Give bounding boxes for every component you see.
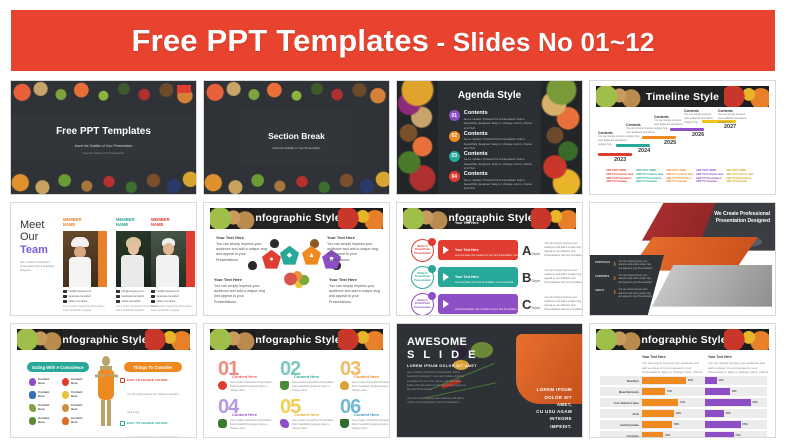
headline-line-2: Presentation Designed — [708, 218, 770, 225]
number-cell-01: 01 Content Here Get a modern PowerPoint … — [218, 360, 274, 392]
number-row: Get a modern PowerPoint Presentation tha… — [218, 381, 274, 392]
timeline-foot-2026: ADD TEXT HERE ADD TO Contents Here ADD T… — [696, 169, 729, 184]
slide-02-subtitle: Insert the Subtitle of Your Presentation — [204, 146, 389, 150]
female-silhouette — [95, 356, 117, 426]
tomato-icon — [62, 378, 69, 386]
herb-icon — [29, 417, 36, 425]
chart-track-purple: 22% — [705, 376, 768, 385]
slide-12-header-bar: Infographic Style — [596, 329, 769, 350]
header-food-right — [724, 86, 769, 107]
slide-06-canvas: Infographic Style ● ◆ ▲ ■ — [204, 203, 389, 316]
header-food-left — [210, 208, 255, 229]
timeline-body: You can simply impress your audience and… — [654, 119, 686, 131]
checklist-item-1: EASY TO CHANGE COLORS You can simply imp… — [120, 378, 186, 418]
timeline-foot-2025: ADD TEXT HERE ADD TO Contents Here ADD T… — [666, 169, 699, 184]
chart-head-left-heading: Your Text Here — [642, 355, 704, 360]
slide-09-title: Infographic Style — [59, 334, 148, 346]
abc-circle-b: Modern PowerPoint Presentation — [411, 266, 434, 289]
abc-desc-b: You can simply impress your audience and… — [544, 269, 583, 285]
agenda-item-body: Get a modern PowerPoint Presentation tha… — [464, 137, 538, 150]
slide-01-canvas: Free PPT Templates Insert the Subtitle o… — [11, 81, 196, 194]
abc-banner-heading: Your Text Here — [455, 248, 518, 252]
berry-icon — [29, 391, 36, 399]
slide-08-canvas: We Create Professional Presentation Desi… — [590, 203, 775, 316]
chart-bar-orange — [642, 399, 678, 406]
slide-09-canvas: Infographic Style Eating With A Conscien… — [11, 324, 196, 437]
chart-pct-purple: 22% — [719, 379, 724, 382]
agenda-item-02[interactable]: 02 Contents Get a modern PowerPoint Pres… — [449, 131, 538, 151]
slide-06-title: Infographic Style — [252, 212, 341, 224]
caption-heading: Your Text Here — [214, 277, 266, 283]
slide-01-subtitle: Insert the Subtitle of Your Presentation — [11, 144, 196, 148]
slide-thumbnail-11[interactable]: AWESOME S L I D E LOREM IPSUM DOLOR SIT … — [396, 323, 583, 438]
broccoli-icon — [340, 419, 349, 428]
slide-01-title: Free PPT Templates — [11, 126, 196, 137]
chart-bar-orange — [642, 377, 686, 384]
number-body: Get a modern PowerPoint Presentation tha… — [292, 381, 336, 392]
left-badge: Eating With A Conscience — [27, 362, 89, 372]
timeline-year-2027: 2027 — [724, 124, 736, 130]
chart-bar-orange — [642, 388, 665, 395]
caption-body: You can simply impress your audience and… — [214, 284, 265, 304]
row-label: PORTFOLIO — [595, 261, 611, 264]
chart-track-purple: 48% — [705, 387, 768, 396]
slide-thumbnail-02[interactable]: Section Break Insert the Subtitle of You… — [203, 80, 390, 195]
chart-bar-purple — [705, 399, 751, 406]
letter-sub: Style — [531, 278, 540, 283]
slide-12-canvas: Infographic Style Your Text Here You can… — [590, 324, 775, 437]
slide-03-canvas: Agenda Style 01 Contents Get a modern Po… — [397, 81, 582, 194]
twitter-icon — [151, 300, 155, 304]
food-glyph-icon: ● — [269, 256, 273, 263]
abc-circle-badge — [428, 238, 436, 246]
caption-4: Your Text Here You can simply impress yo… — [329, 277, 381, 306]
number-cell-02: 02 Content Here Get a modern PowerPoint … — [280, 360, 336, 392]
facebook-icon — [151, 295, 155, 299]
member-photo — [63, 231, 107, 287]
check-icon — [120, 421, 125, 426]
chevron-right-icon: ❯ — [613, 261, 616, 266]
veg-label: ContentHere — [38, 378, 49, 386]
shield-shape-3: ▲ — [302, 246, 321, 265]
caption-body: You can simply impress your audience and… — [329, 284, 380, 304]
chart-track-orange: 58% — [642, 420, 705, 429]
chart-pct-purple: 88% — [753, 401, 758, 404]
row-label: CONTENTS — [595, 275, 611, 278]
slide-08-headline: We Create Professional Presentation Desi… — [708, 211, 770, 226]
slide-thumbnail-05[interactable]: Meet Our Team Get a modern PowerPoint Pr… — [10, 202, 197, 317]
member-name-l2: NAME — [151, 222, 163, 227]
eggplant-icon — [29, 378, 36, 386]
letter-glyph: B — [522, 270, 531, 285]
header-food-right — [338, 208, 383, 229]
silhouette-leg-right — [107, 400, 111, 426]
number-body: Get a modern PowerPoint Presentation tha… — [292, 419, 336, 430]
row-label: ABOUT — [595, 289, 611, 292]
silhouette-leg-left — [101, 400, 105, 426]
facebook-icon — [116, 295, 120, 299]
number-row: Get a modern PowerPoint Presentation tha… — [280, 419, 336, 430]
veg-item-7: ContentHere — [29, 417, 58, 425]
apple-glyph-icon: ▲ — [308, 252, 315, 259]
agenda-item-label: Contents — [464, 151, 538, 158]
slide-04-canvas: Timeline Style 2023 2024 2025 2026 2027 … — [590, 81, 775, 194]
slide-11-title-line-1: AWESOME — [407, 336, 467, 348]
row-body: You can simply impress your audience and… — [618, 275, 654, 285]
slide-thumbnail-06[interactable]: Infographic Style ● ◆ ▲ ■ — [203, 202, 390, 317]
caption-1: Your Text Here You can simply impress yo… — [216, 235, 268, 264]
member-name: MEMBER NAME — [151, 217, 195, 228]
number-cell-04: 04 Content Here Get a modern PowerPoint … — [218, 398, 274, 430]
abc-circle-c: Modern PowerPoint Presentation — [411, 293, 434, 316]
garlic-icon — [340, 381, 349, 390]
member-photo — [151, 231, 195, 287]
timeline-year-2024: 2024 — [638, 148, 650, 154]
number-row: Get a modern PowerPoint Presentation tha… — [218, 419, 274, 430]
twitter-icon — [63, 300, 67, 304]
number-heading: Content Here — [294, 412, 336, 417]
right-line-3: AMET, — [536, 401, 572, 408]
agenda-item-01[interactable]: 01 Contents Get a modern PowerPoint Pres… — [449, 110, 538, 130]
chart-track-orange: 62% — [642, 409, 705, 418]
onion-icon — [62, 404, 69, 412]
member-name-l1: MEMBER — [116, 217, 135, 222]
slide-thumbnail-03[interactable]: Agenda Style 01 Contents Get a modern Po… — [396, 80, 583, 195]
slide-05-canvas: Meet Our Team Get a modern PowerPoint Pr… — [11, 203, 196, 316]
agenda-item-body: Get a modern PowerPoint Presentation tha… — [464, 157, 538, 170]
caption-body: You can simply impress your audience and… — [216, 242, 267, 262]
slide-11-subtitle: LOREM IPSUM DOLOR SIT AMET — [407, 364, 477, 368]
slide-11-body-1: Get a modern PowerPoint Presentation tha… — [407, 371, 469, 392]
chef-coat — [121, 255, 144, 287]
number-cell-06: 06 Content Here Get a modern PowerPoint … — [340, 398, 390, 430]
foot-line: ADD TO Template — [666, 180, 699, 184]
chart-track-orange: 40% — [642, 431, 705, 438]
right-line-5: INTEGRE — [536, 415, 572, 422]
face-shape — [128, 243, 139, 255]
abc-circle-text: Modern PowerPoint Presentation — [412, 245, 433, 256]
chart-category-label: Your Nutrient Here — [600, 401, 642, 405]
chart-track-purple: 55% — [705, 431, 768, 438]
member-name: MEMBER NAME — [63, 217, 107, 228]
member-name-l2: NAME — [63, 222, 75, 227]
caption-heading: Your Text Here — [327, 235, 379, 241]
number-row: Get a modern PowerPoint Presentation tha… — [280, 381, 336, 392]
number-body: Get a modern PowerPoint Presentation tha… — [230, 381, 274, 392]
slide-thumbnail-04[interactable]: Timeline Style 2023 2024 2025 2026 2027 … — [589, 80, 776, 195]
slide-07-canvas: Infographic Style Modern PowerPoint Pres… — [397, 203, 582, 316]
caption-2: Your Text Here You can simply impress yo… — [327, 235, 379, 264]
chart-row-4: Fruit 62% 35% — [600, 409, 767, 418]
link-twitter[interactable]: twitter.com/abcd — [151, 300, 195, 304]
link-twitter[interactable]: twitter.com/abcd — [63, 300, 107, 304]
veg-label: ContentHere — [71, 404, 82, 412]
caption-3: Your Text Here You can simply impress yo… — [214, 277, 266, 306]
member-side-band — [186, 231, 195, 287]
number-heading: Content Here — [232, 412, 274, 417]
agenda-item-text: Contents Get a modern PowerPoint Present… — [464, 110, 538, 130]
slide-thumbnail-12[interactable]: Infographic Style Your Text Here You can… — [589, 323, 776, 438]
slide-04-title: Timeline Style — [646, 91, 719, 103]
chart-pct-orange: 85% — [688, 379, 693, 382]
chart-pct-purple: 48% — [732, 390, 737, 393]
abc-row-c[interactable]: Modern PowerPoint Presentation Your Text… — [411, 293, 583, 316]
banner-title-sub: Slides No 01~12 — [453, 27, 655, 57]
abc-banner-text: Your Text Here Never add before has the … — [455, 275, 518, 316]
chart-row-1: Nutrition 85% 22% — [600, 376, 767, 385]
chart-bar-purple — [705, 377, 717, 384]
oil-bottle-icon — [62, 391, 69, 399]
header-food-left — [596, 329, 641, 350]
member-links: info@company.com facebook.com/abcd twitt… — [63, 290, 107, 304]
timeline-foot-2023: ADD TEXT HERE ADD TO Contents Here ADD T… — [606, 169, 639, 184]
agenda-number-badge: 03 — [449, 151, 460, 162]
garlic-photo-panel — [652, 265, 772, 307]
right-line-1: LOREM IPSUM — [536, 386, 572, 393]
timeline-block-2027: Contents You can simply impress your aud… — [718, 109, 750, 125]
chef-coat — [156, 255, 179, 287]
chart-pct-orange: 58% — [674, 423, 679, 426]
veg-item-8: ContentHere — [62, 417, 91, 425]
member-side-band — [98, 231, 107, 287]
link-email[interactable]: info@company.com — [63, 290, 107, 294]
chevron-right-icon: ❯ — [613, 289, 616, 294]
right-line-6: IMPEDIT. — [536, 423, 572, 430]
timeline-block-2025: Contents You can simply impress your aud… — [654, 115, 686, 131]
veg-item-4: ContentHere — [62, 391, 91, 399]
right-line-2: DOLOR SIT — [536, 394, 572, 401]
team-member-card-1[interactable]: MEMBER NAME info@company.com facebook.co… — [63, 217, 107, 313]
foot-line: ADD TO Template — [606, 180, 639, 184]
caption-heading: Your Text Here — [329, 277, 381, 283]
abc-letter-b: BStyle — [522, 270, 540, 285]
header-food-right — [338, 329, 383, 350]
team-member-card-3[interactable]: MEMBER NAME info@company.com facebook.co… — [151, 217, 195, 313]
slide-11-title-line-2: S L I D E — [407, 349, 478, 361]
slide-10-header-bar: Infographic Style — [210, 329, 383, 350]
slide-thumbnail-10[interactable]: Infographic Style 01 Content Here Get a … — [203, 323, 390, 438]
header-food-left — [210, 329, 255, 350]
member-name-l1: MEMBER — [151, 217, 170, 222]
veg-icon-grid: ContentHere ContentHere ContentHere Cont… — [29, 378, 91, 425]
timeline-year-2023: 2023 — [614, 157, 626, 163]
slide-11-canvas: AWESOME S L I D E LOREM IPSUM DOLOR SIT … — [397, 324, 582, 437]
face-shape — [163, 243, 174, 255]
shield-shape-2: ◆ — [280, 246, 299, 265]
letter-glyph: C — [522, 297, 531, 312]
silhouette-head — [102, 356, 110, 366]
veg-label: ContentHere — [38, 417, 49, 425]
veg-item-5: ContentHere — [29, 404, 58, 412]
person-head-1 — [270, 239, 279, 248]
chart-head-right-heading: Your Text Here — [708, 355, 770, 360]
chart-pct-orange: 70% — [680, 401, 685, 404]
slide-09-header-bar: Infographic Style — [17, 329, 190, 350]
veg-item-3: ContentHere — [29, 391, 58, 399]
checklist-body: You can simply impress your audience and… — [127, 436, 179, 438]
header-food-left — [596, 86, 641, 107]
face-shape — [74, 246, 86, 258]
veg-label: ContentHere — [38, 391, 49, 399]
veg-item-2: ContentHere — [62, 378, 91, 386]
letter-glyph: A — [522, 243, 531, 258]
title-line-1: Meet — [20, 219, 48, 232]
banner-title-separator: - — [429, 27, 453, 57]
right-badge: Things To Consider — [124, 362, 182, 372]
agenda-item-label: Contents — [464, 131, 538, 138]
header-food-right — [145, 329, 190, 350]
abc-circle-a: Modern PowerPoint Presentation — [411, 239, 434, 262]
agenda-number-badge: 04 — [449, 171, 460, 182]
link-email[interactable]: info@company.com — [151, 290, 195, 294]
chart-bar-orange — [642, 432, 663, 438]
abc-banner-heading: Your Text Here — [455, 221, 518, 225]
timeline-foot-2027: ADD TEXT HERE ADD TO Contents Here ADD T… — [726, 169, 759, 184]
chart-bar-purple — [705, 410, 724, 417]
veg-item-6: ContentHere — [62, 404, 91, 412]
caption-heading: Your Text Here — [216, 235, 268, 241]
abc-desc-c: You can simply impress your audience and… — [544, 296, 583, 312]
checklist-heading: EASY TO CHANGE COLORS — [127, 421, 186, 425]
number-heading: Content Here — [294, 374, 336, 379]
slide-11-body-2: You can simply impress your audience and… — [407, 397, 469, 405]
slide-thumbnail-08[interactable]: We Create Professional Presentation Desi… — [589, 202, 776, 317]
chart-category-label: Nutrition — [600, 379, 642, 383]
chart-row-5: Carbohydrate 58% 68% — [600, 420, 767, 429]
page-header-banner: Free PPT Templates - Slides No 01~12 — [11, 10, 775, 71]
letter-sub: Style — [531, 305, 540, 310]
slide-11-right-text: LOREM IPSUM DOLOR SIT AMET, CU USU AGAM … — [536, 386, 572, 430]
abc-letter-c: CStyle — [522, 297, 540, 312]
eggplant-icon — [280, 419, 289, 428]
link-facebook[interactable]: facebook.com/abcd — [151, 295, 195, 299]
chart-pct-purple: 35% — [726, 412, 731, 415]
timeline-foot-2024: ADD TEXT HERE ADD TO Contents Here ADD T… — [636, 169, 669, 184]
title-line-2: Our — [20, 231, 48, 244]
slide-thumbnail-09[interactable]: Infographic Style Eating With A Conscien… — [10, 323, 197, 438]
chart-track-orange: 70% — [642, 398, 705, 407]
slide-thumbnail-07[interactable]: Infographic Style Modern PowerPoint Pres… — [396, 202, 583, 317]
tomato-icon — [218, 381, 227, 390]
veg-item-1: ContentHere — [29, 378, 58, 386]
slide-10-canvas: Infographic Style 01 Content Here Get a … — [204, 324, 389, 437]
timeline-block-2026: Contents You can simply impress your aud… — [684, 109, 716, 125]
chart-row-3: Your Nutrient Here 70% 88% — [600, 398, 767, 407]
chart-bar-orange — [642, 421, 672, 428]
leaf-glyph-icon: ◆ — [287, 251, 292, 259]
headline-line-1: We Create Professional — [708, 211, 770, 218]
arrow-right-icon — [443, 246, 449, 254]
chart-track-purple: 68% — [705, 420, 768, 429]
chart-bar-orange — [642, 410, 674, 417]
member-name-l2: NAME — [116, 222, 128, 227]
chart-row-2: Meat Nutrients 45% 48% — [600, 387, 767, 396]
kale-icon — [218, 419, 227, 428]
slide-08-rows: PORTFOLIO ❯ You can simply impress your … — [595, 261, 661, 300]
twitter-icon — [116, 300, 120, 304]
abc-banner-heading: Your Text Here — [455, 275, 518, 279]
timeline-bar-2023 — [598, 153, 632, 156]
slide-02-title: Section Break — [204, 131, 389, 141]
abc-banner-body: Never add before has the Template of our… — [455, 290, 518, 316]
number-body: Get a modern PowerPoint Presentation tha… — [230, 419, 274, 430]
timeline-year-2026: 2026 — [692, 132, 704, 138]
check-icon — [120, 378, 125, 383]
slide-08-row-2: CONTENTS ❯ You can simply impress your a… — [595, 275, 661, 285]
leaf-icon — [29, 404, 36, 412]
number-cell-05: 05 Content Here Get a modern PowerPoint … — [280, 398, 336, 430]
number-row: Get a modern PowerPoint Presentation tha… — [340, 419, 390, 430]
mail-icon — [116, 290, 120, 294]
chart-bar-purple — [705, 432, 734, 438]
banner-title: Free PPT Templates - Slides No 01~12 — [131, 23, 654, 59]
pepper-icon — [62, 417, 69, 425]
chef-coat — [69, 257, 91, 287]
slide-thumbnail-01[interactable]: Free PPT Templates Insert the Subtitle o… — [10, 80, 197, 195]
agenda-item-04[interactable]: 04 Contents Get a modern PowerPoint Pres… — [449, 171, 538, 191]
agenda-number-badge: 02 — [449, 131, 460, 142]
banner-title-main: Free PPT Templates — [131, 23, 429, 58]
agenda-item-text: Contents Get a modern PowerPoint Present… — [464, 171, 538, 191]
number-heading: Content Here — [232, 374, 274, 379]
foot-line: ADD TO Template — [636, 180, 669, 184]
chart-row-6: Contents 40% 55% — [600, 431, 767, 438]
chart-category-label: Carbohydrate — [600, 423, 642, 427]
agenda-item-label: Contents — [464, 171, 538, 178]
slide-01-subtitle-2: Insert the Subtitle of Your Presentation — [11, 152, 196, 155]
checklist-text: EASY TO CHANGE COLORS You can simply imp… — [127, 421, 186, 438]
link-facebook[interactable]: facebook.com/abcd — [63, 295, 107, 299]
chart-bar-purple — [705, 388, 730, 395]
timeline-body: You can simply impress your audience and… — [684, 113, 716, 125]
chevron-right-icon: ❯ — [613, 275, 616, 280]
abc-circle-text: Modern PowerPoint Presentation — [412, 299, 433, 310]
food-basket-illustration — [282, 270, 316, 290]
timeline-body: You can simply impress your audience and… — [718, 113, 750, 125]
number-body: Get a modern PowerPoint Presentation tha… — [352, 419, 390, 430]
member-links: info@company.com facebook.com/abcd twitt… — [151, 290, 195, 304]
checklist-text: EASY TO CHANGE COLORS You can simply imp… — [127, 378, 186, 418]
agenda-item-03[interactable]: 03 Contents Get a modern PowerPoint Pres… — [449, 151, 538, 171]
chart-pct-orange: 40% — [665, 434, 670, 437]
slide-thumbnail-grid: Free PPT Templates Insert the Subtitle o… — [10, 80, 776, 438]
row-body: You can simply impress your audience and… — [618, 261, 654, 271]
chart-category-label: Meat Nutrients — [600, 390, 642, 394]
abc-circle-text: Modern PowerPoint Presentation — [412, 272, 433, 283]
abc-circle-badge — [428, 265, 436, 273]
agenda-item-text: Contents Get a modern PowerPoint Present… — [464, 151, 538, 171]
chart-bar-purple — [705, 421, 741, 428]
header-food-right — [531, 208, 576, 229]
header-food-left — [17, 329, 62, 350]
chart-track-purple: 88% — [705, 398, 768, 407]
abc-banner-c: Your Text Here Never add before has the … — [438, 294, 518, 314]
agenda-number-badge: 01 — [449, 110, 460, 121]
header-food-right — [724, 329, 769, 350]
number-heading: Content Here — [354, 374, 390, 379]
slide-10-title: Infographic Style — [252, 334, 341, 346]
slide-08-row-1: PORTFOLIO ❯ You can simply impress your … — [595, 261, 661, 271]
veg-label: ContentHere — [71, 391, 82, 399]
slide-12-title: Infographic Style — [638, 334, 727, 346]
number-heading: Content Here — [354, 412, 390, 417]
veg-label: ContentHere — [71, 378, 82, 386]
arrow-right-icon — [443, 300, 449, 308]
chart-track-orange: 45% — [642, 387, 705, 396]
veg-label: ContentHere — [71, 417, 82, 425]
chart-category-label: Fruit — [600, 412, 642, 416]
template-gallery-page: Free PPT Templates - Slides No 01~12 Fre… — [0, 0, 786, 445]
